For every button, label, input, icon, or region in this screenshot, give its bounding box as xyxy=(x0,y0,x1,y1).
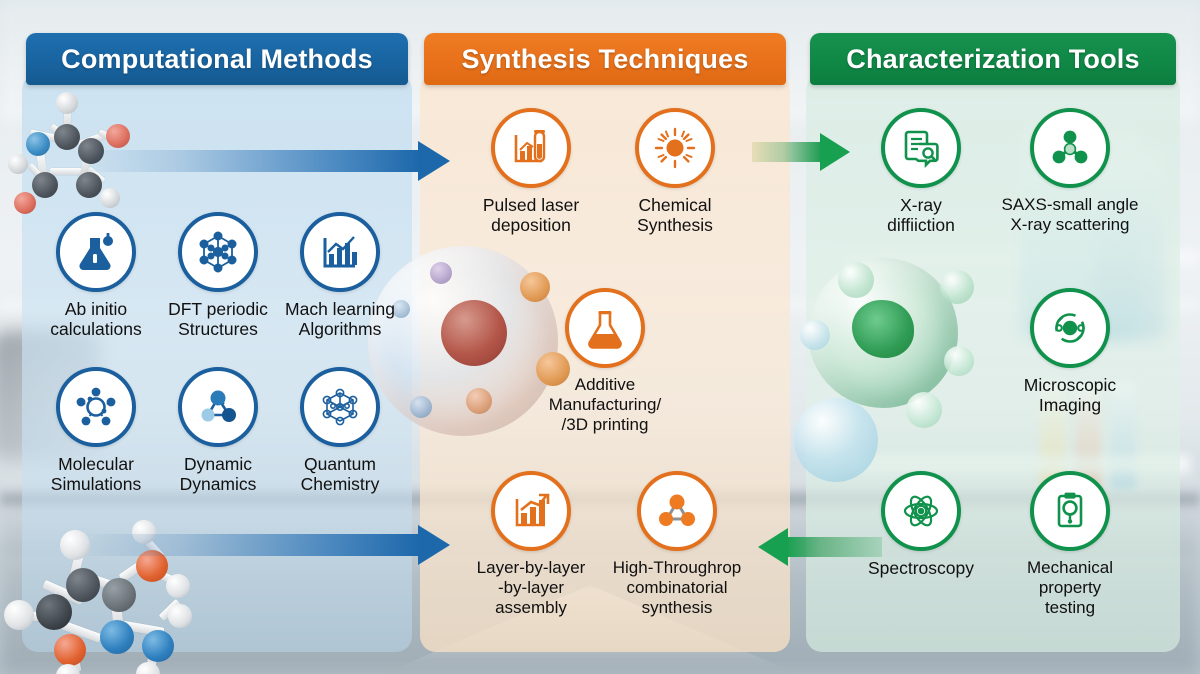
bar-chart-trend-icon xyxy=(300,212,380,292)
molecular-bubble-right-core xyxy=(852,300,914,358)
item-label: SAXS-small angle X-ray scattering xyxy=(985,195,1155,235)
item-ab-initio-calculations[interactable]: Ab initio calculations xyxy=(36,212,156,339)
header-synthesis-label: Synthesis Techniques xyxy=(461,44,748,75)
molecule-satellite xyxy=(430,262,452,284)
molecule-satellite xyxy=(944,346,974,376)
triangle-molecule-icon xyxy=(637,471,717,551)
item-chemical-synthesis[interactable]: Chemical Synthesis xyxy=(590,108,760,235)
item-dynamic-dynamics[interactable]: Dynamic Dynamics xyxy=(158,367,278,494)
item-label: Layer-by-layer -by-layer assembly xyxy=(446,558,616,618)
item-additive-manufacturing[interactable]: Additive Manufacturing/ /3D printing xyxy=(520,288,690,435)
triangle-nodes-icon xyxy=(178,367,258,447)
item-label: Additive Manufacturing/ /3D printing xyxy=(520,375,690,435)
infographic-canvas: Computational Methods Synthesis Techniqu… xyxy=(0,0,1200,674)
molecule-satellite xyxy=(410,396,432,418)
molecule-satellite xyxy=(838,262,874,298)
item-spectroscopy[interactable]: Spectroscopy xyxy=(836,471,1006,578)
item-label: Ab initio calculations xyxy=(36,299,156,339)
item-label: Molecular Simulations xyxy=(36,454,156,494)
arrow-computational-to-synthesis-bottom xyxy=(80,525,450,565)
y-molecule-icon xyxy=(1030,108,1110,188)
item-machine-learning-algorithms[interactable]: Mach learning Algorithms xyxy=(280,212,400,339)
item-microscopic-imaging[interactable]: Microscopic Imaging xyxy=(985,288,1155,415)
item-dft-periodic-structures[interactable]: DFT periodic Structures xyxy=(158,212,278,339)
item-label: Mach learning Algorithms xyxy=(280,299,400,339)
item-label: Quantum Chemistry xyxy=(280,454,400,494)
item-label: DFT periodic Structures xyxy=(158,299,278,339)
item-saxs-small-angle-xray-scattering[interactable]: SAXS-small angle X-ray scattering xyxy=(985,108,1155,235)
chart-testtube-icon xyxy=(491,108,571,188)
item-label: High-Throughrop combinatorial synthesis xyxy=(592,558,762,618)
item-label: X-ray diffiiction xyxy=(836,195,1006,235)
item-label: Dynamic Dynamics xyxy=(158,454,278,494)
molecule-satellite-blue xyxy=(794,398,878,482)
erlenmeyer-flask-icon xyxy=(565,288,645,368)
atom-orbit-icon xyxy=(881,471,961,551)
item-mechanical-property-testing[interactable]: Mechanical property testing xyxy=(985,471,1155,618)
item-quantum-chemistry[interactable]: Quantum Chemistry xyxy=(280,367,400,494)
item-label: Chemical Synthesis xyxy=(590,195,760,235)
flask-lab-icon xyxy=(56,212,136,292)
item-layer-by-layer-assembly[interactable]: Layer-by-layer -by-layer assembly xyxy=(446,471,616,618)
item-label: Mechanical property testing xyxy=(985,558,1155,618)
sun-burst-icon xyxy=(635,108,715,188)
hex-network-icon xyxy=(300,367,380,447)
molecule-ring-icon xyxy=(56,367,136,447)
growth-arrow-chart-icon xyxy=(491,471,571,551)
header-computational-label: Computational Methods xyxy=(61,44,373,75)
lens-cell-icon xyxy=(1030,288,1110,368)
molecule-satellite xyxy=(906,392,942,428)
lattice-network-icon xyxy=(178,212,258,292)
molecule-satellite xyxy=(940,270,974,304)
header-characterization-label: Characterization Tools xyxy=(846,44,1139,75)
arrow-computational-to-synthesis-top xyxy=(80,141,450,181)
clipboard-gauge-icon xyxy=(1030,471,1110,551)
item-molecular-simulations[interactable]: Molecular Simulations xyxy=(36,367,156,494)
molecular-bubble-center-core xyxy=(441,300,507,366)
document-scan-icon xyxy=(881,108,961,188)
header-synthesis-techniques: Synthesis Techniques xyxy=(424,33,786,85)
item-label: Microscopic Imaging xyxy=(985,375,1155,415)
header-computational-methods: Computational Methods xyxy=(26,33,408,85)
item-label: Spectroscopy xyxy=(836,558,1006,578)
molecule-satellite xyxy=(466,388,492,414)
molecule-satellite xyxy=(800,320,830,350)
item-xray-diffraction[interactable]: X-ray diffiiction xyxy=(836,108,1006,235)
item-high-throughput-combinatorial-synthesis[interactable]: High-Throughrop combinatorial synthesis xyxy=(592,471,762,618)
header-characterization-tools: Characterization Tools xyxy=(810,33,1176,85)
